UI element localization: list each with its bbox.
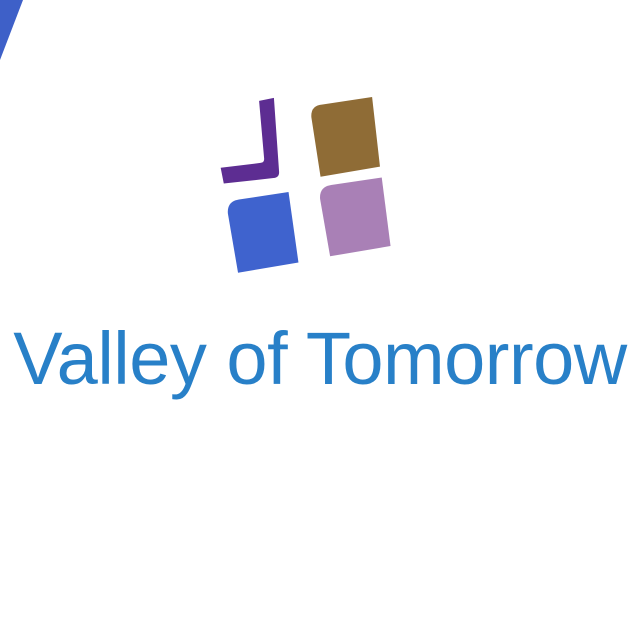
tile-square-mauve-icon	[319, 177, 391, 256]
brand-wordmark: Valley of Tomorrow	[0, 322, 640, 396]
tile-square-brown-icon	[310, 97, 380, 177]
tile-square-blue-icon	[227, 192, 299, 273]
tile-bracket-purple-icon	[216, 98, 280, 184]
brand-logo-mark	[218, 92, 388, 277]
logo-canvas: Valley of Tomorrow	[0, 0, 640, 640]
corner-wedge-icon	[0, 0, 80, 80]
